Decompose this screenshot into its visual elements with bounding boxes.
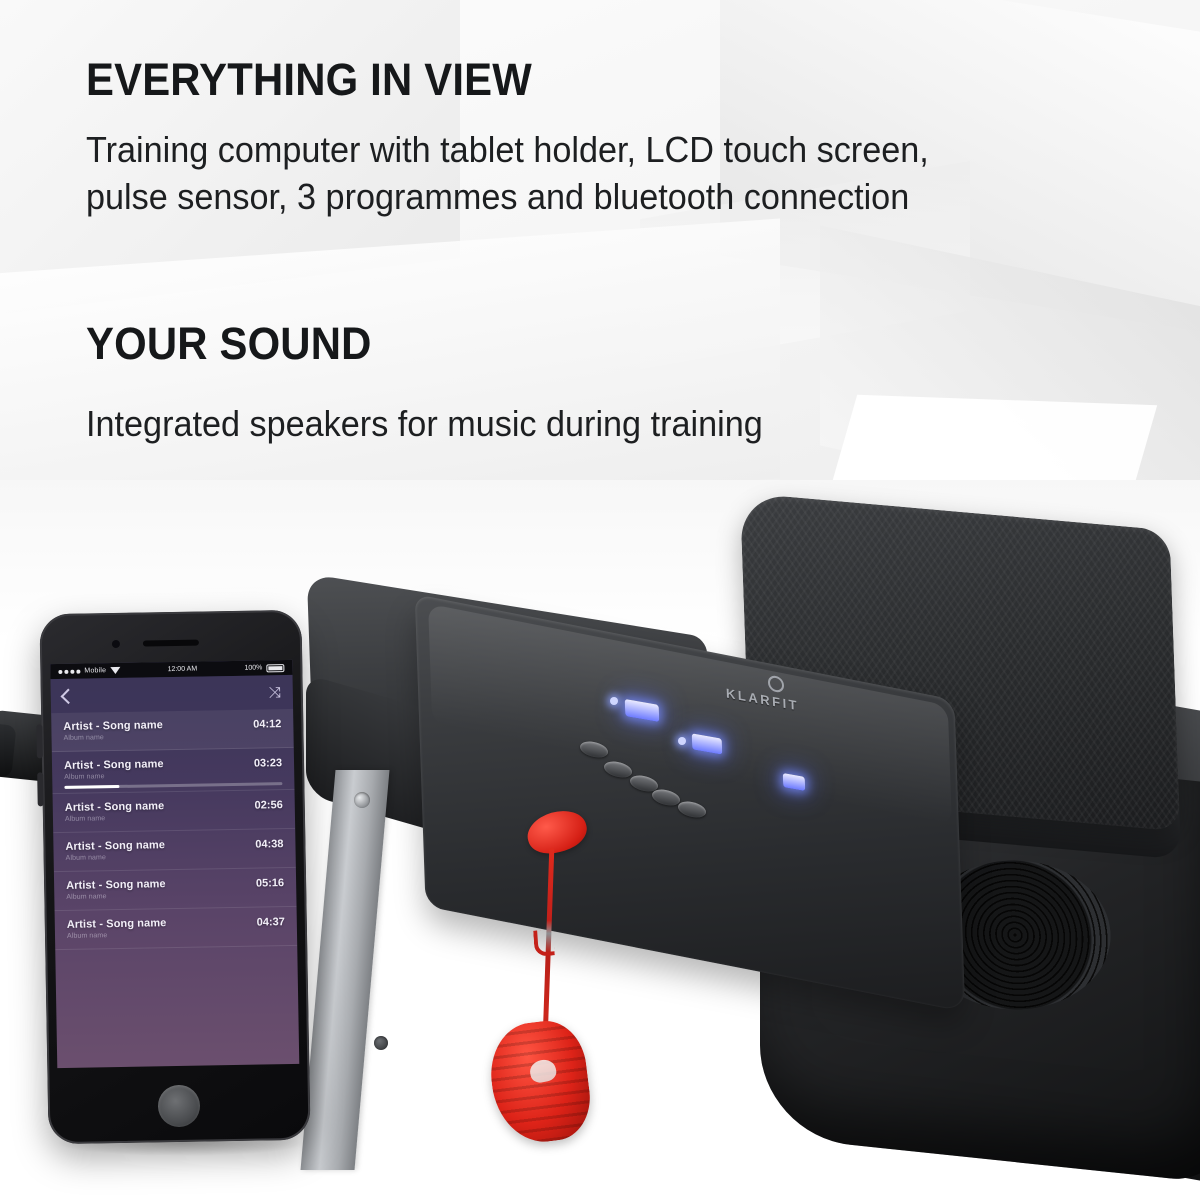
smartphone-device: Mobile 12:00 AM 100% ⤨ Artist - Song nam…	[39, 610, 310, 1144]
back-chevron-icon[interactable]	[61, 688, 77, 704]
track-info: Artist - Song nameAlbum name	[66, 878, 166, 901]
track-album: Album name	[67, 931, 167, 940]
list-item[interactable]: Artist - Song nameAlbum name04:12	[51, 709, 294, 752]
track-album: Album name	[66, 892, 166, 901]
track-title: Artist - Song name	[65, 800, 165, 814]
console-led-indicator	[678, 737, 686, 745]
home-button[interactable]	[158, 1085, 201, 1128]
track-title: Artist - Song name	[65, 839, 165, 853]
carrier-label: Mobile	[84, 667, 106, 674]
section-your-sound: YOUR SOUND Integrated speakers for music…	[86, 320, 798, 448]
list-item[interactable]: Artist - Song nameAlbum name04:38	[53, 829, 296, 872]
track-album: Album name	[65, 814, 165, 823]
body-everything-in-view: Training computer with tablet holder, LC…	[86, 127, 929, 221]
track-album: Album name	[64, 772, 164, 781]
track-album: Album name	[66, 853, 166, 862]
list-item[interactable]: Artist - Song nameAlbum name03:23	[52, 748, 295, 794]
volume-up-button[interactable]	[36, 724, 43, 758]
wifi-icon	[110, 667, 120, 674]
track-album: Album name	[64, 733, 164, 742]
track-duration: 04:38	[255, 837, 283, 850]
phone-screen: Mobile 12:00 AM 100% ⤨ Artist - Song nam…	[50, 660, 299, 1068]
track-duration: 02:56	[255, 798, 283, 811]
track-info: Artist - Song nameAlbum name	[65, 800, 165, 823]
track-title: Artist - Song name	[64, 758, 164, 772]
earpiece-speaker-icon	[143, 640, 199, 647]
status-time: 12:00 AM	[124, 665, 240, 674]
list-item[interactable]: Artist - Song nameAlbum name05:16	[54, 868, 297, 911]
list-item[interactable]: Artist - Song nameAlbum name02:56	[53, 790, 296, 833]
shuffle-icon[interactable]: ⤨	[269, 685, 281, 700]
section-everything-in-view: EVERYTHING IN VIEW Training computer wit…	[86, 56, 973, 221]
console-led-indicator	[610, 697, 618, 705]
headline-your-sound: YOUR SOUND	[86, 320, 749, 367]
playlist-track-list[interactable]: Artist - Song nameAlbum name04:12Artist …	[51, 709, 297, 950]
signal-dots-icon	[58, 669, 80, 673]
track-info: Artist - Song nameAlbum name	[64, 758, 164, 781]
track-duration: 04:37	[257, 915, 285, 928]
support-post-bolt	[354, 792, 370, 808]
safety-key-hook-icon	[533, 929, 555, 956]
player-navbar: ⤨	[51, 675, 294, 713]
track-title: Artist - Song name	[66, 878, 166, 892]
support-post-hole	[374, 1036, 388, 1050]
battery-percent-label: 100%	[244, 664, 262, 671]
track-duration: 05:16	[256, 876, 284, 889]
track-info: Artist - Song nameAlbum name	[63, 719, 163, 742]
support-post	[301, 770, 390, 1170]
track-duration: 03:23	[254, 756, 282, 769]
list-item[interactable]: Artist - Song nameAlbum name04:37	[55, 907, 298, 950]
track-title: Artist - Song name	[63, 719, 163, 733]
front-camera-icon	[112, 640, 120, 648]
track-info: Artist - Song nameAlbum name	[67, 917, 167, 940]
volume-down-button[interactable]	[37, 772, 44, 806]
track-duration: 04:12	[253, 717, 281, 730]
headline-everything-in-view: EVERYTHING IN VIEW	[86, 56, 911, 103]
phone-chin	[47, 1068, 310, 1145]
playback-progress-track[interactable]	[64, 782, 282, 789]
body-your-sound: Integrated speakers for music during tra…	[86, 401, 763, 448]
track-info: Artist - Song nameAlbum name	[65, 839, 165, 862]
track-title: Artist - Song name	[67, 917, 167, 931]
playback-progress-fill	[64, 785, 119, 789]
battery-full-icon	[266, 664, 284, 672]
